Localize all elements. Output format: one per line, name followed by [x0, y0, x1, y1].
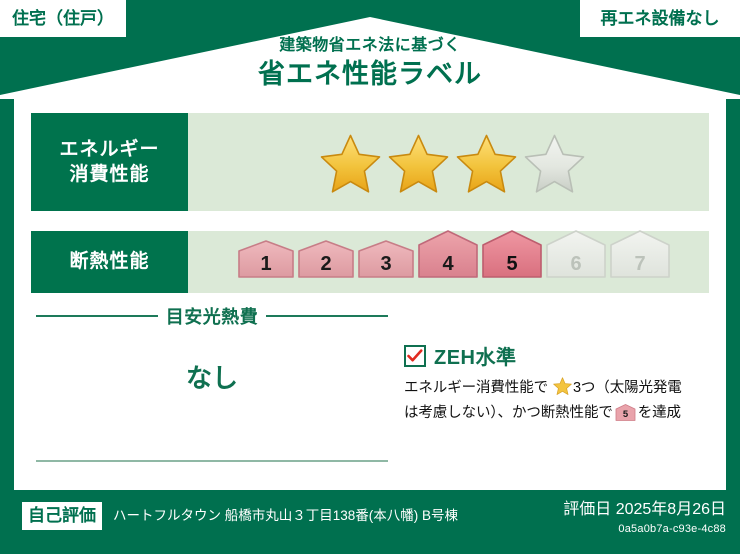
insulation-performance-label: 断熱性能 [31, 231, 188, 293]
energy-performance-body [188, 113, 709, 211]
property-name: ハートフルタウン 船橋市丸山３丁目138番(本八幡) B号棟 [113, 507, 458, 525]
building-type-tag-label: 住宅（住戸） [12, 10, 114, 27]
label-footer: 自己評価 ハートフルタウン 船橋市丸山３丁目138番(本八幡) B号棟 評価日 … [0, 490, 740, 554]
checkbox-checked-icon [404, 345, 426, 367]
utility-cost-value: なし [36, 358, 388, 395]
insulation-performance-body: 1234567 [188, 231, 709, 293]
zeh-description: エネルギー消費性能で 3つ（太陽光発電は考慮しない）、かつ断熱性能で 5 を達成 [404, 377, 714, 425]
utility-cost-title: 目安光熱費 [166, 303, 259, 329]
utility-cost-heading: 目安光熱費 [36, 303, 388, 329]
zeh-desc-part2: 3つ（太陽光発電 [573, 380, 682, 396]
star-icon-filled [452, 130, 518, 194]
zeh-block: ZEH水準 エネルギー消費性能で 3つ（太陽光発電は考慮しない）、かつ断熱性能で… [404, 341, 714, 425]
evaluation-info: 評価日 2025年8月26日 0a5a0b7a-c93e-4c88 [563, 500, 726, 537]
zeh-desc-part4: を達成 [638, 405, 681, 421]
building-type-tag: 住宅（住戸） [0, 0, 126, 37]
inline-star-icon [549, 383, 572, 399]
energy-performance-row: エネルギー 消費性能 [31, 113, 709, 211]
zeh-heading: ZEH水準 [404, 341, 714, 370]
insulation-level-value: 3 [380, 253, 391, 275]
insulation-level-value: 6 [570, 253, 581, 275]
insulation-level-6: 6 [545, 230, 607, 287]
insulation-level-value: 2 [320, 253, 331, 275]
star-icon-filled [384, 130, 450, 194]
energy-label-line1: エネルギー [59, 139, 159, 160]
insulation-label-text: 断熱性能 [69, 249, 149, 274]
label-card: エネルギー 消費性能 断熱性能 1234567 目安光熱費 [14, 98, 726, 490]
insulation-level-7: 7 [609, 230, 671, 287]
energy-performance-label: エネルギー 消費性能 [31, 113, 188, 211]
insulation-level-5: 5 [481, 230, 543, 287]
renewable-energy-tag: 再エネ設備なし [580, 0, 740, 37]
zeh-desc-part1: エネルギー消費性能で [404, 380, 548, 396]
insulation-level-2: 2 [297, 240, 355, 287]
lower-section: 目安光熱費 なし ZEH水準 エネルギー消費性能で [14, 303, 726, 490]
inline-level-badge-value: 5 [623, 409, 629, 420]
insulation-level-value: 7 [634, 253, 645, 275]
insulation-performance-row: 断熱性能 1234567 [31, 231, 709, 293]
energy-performance-label: 住宅（住戸） 再エネ設備なし 建築物省エネ法に基づく 省エネ性能ラベル エネルギ… [0, 0, 740, 554]
utility-cost-underline [36, 460, 388, 462]
star-icon-empty [520, 130, 586, 194]
renewable-energy-tag-label: 再エネ設備なし [601, 10, 720, 27]
insulation-level-scale: 1234567 [237, 231, 671, 293]
rule-right [266, 315, 388, 317]
inline-level-badge: 5 [615, 404, 636, 421]
page-title: 省エネ性能ラベル [0, 58, 740, 92]
insulation-level-1: 1 [237, 240, 295, 287]
energy-label-line2: 消費性能 [69, 164, 149, 185]
insulation-level-4: 4 [417, 230, 479, 287]
zeh-title: ZEH水準 [434, 341, 517, 370]
evaluation-id: 0a5a0b7a-c93e-4c88 [563, 521, 726, 538]
label-header: 建築物省エネ法に基づく 省エネ性能ラベル [0, 36, 740, 92]
rule-left [36, 315, 158, 317]
star-icon-filled [316, 130, 382, 194]
insulation-level-3: 3 [357, 240, 415, 287]
insulation-level-value: 4 [442, 253, 454, 275]
insulation-level-value: 5 [506, 253, 517, 275]
insulation-level-value: 1 [260, 253, 271, 275]
zeh-desc-part3: は考慮しない）、かつ断熱性能で [404, 405, 613, 421]
header-subtitle: 建築物省エネ法に基づく [0, 36, 740, 56]
self-assessment-badge: 自己評価 [22, 502, 102, 530]
star-rating [316, 130, 586, 194]
evaluation-date: 評価日 2025年8月26日 [563, 500, 726, 521]
